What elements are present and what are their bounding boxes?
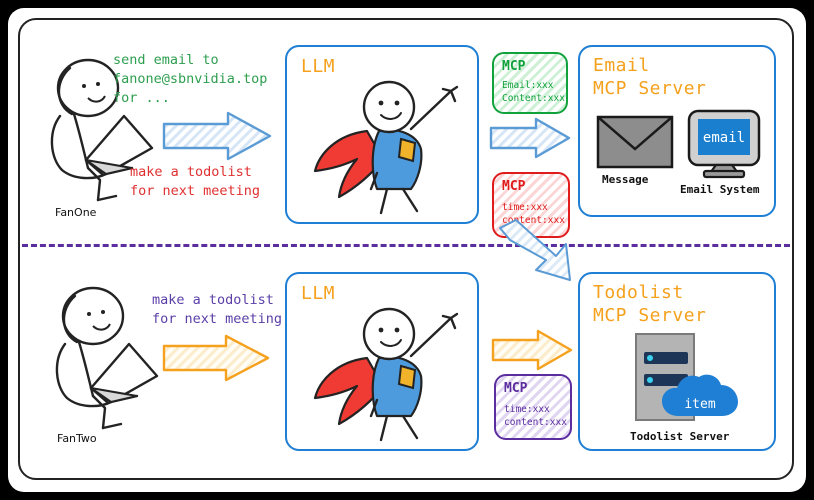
blue-arrow-right-icon (160, 110, 275, 162)
email-prompt-text: send email to fanone@sbnvidia.top for ..… (113, 51, 267, 108)
todolist-prompt-text: make a todolist for next meeting (130, 163, 260, 201)
envelope-icon (596, 115, 674, 171)
server-rack-cloud-icon: item (628, 332, 746, 430)
diagram-canvas: FanOne send email to fanone@sbnvidia.top… (0, 0, 814, 500)
mcp-red-line1: time:xxx (502, 202, 548, 213)
mcp-green-label: MCP (502, 59, 525, 74)
blue-arrow-diagonal-icon (496, 222, 580, 284)
mcp-red-label: MCP (502, 179, 525, 194)
person-label-fanone: FanOne (55, 206, 96, 219)
monitor-caption: Email System (680, 183, 759, 196)
svg-text:email: email (703, 130, 745, 146)
superhero-llm-icon-2 (305, 300, 473, 446)
todolist-mcp-server-card[interactable]: Todolist MCP Server item Todolist Server (578, 272, 776, 451)
llm-card-top[interactable]: LLM (285, 45, 479, 224)
mcp-green-line1: Email:xxx (502, 80, 553, 91)
envelope-caption: Message (602, 173, 648, 186)
todolist-server-title: Todolist MCP Server (593, 281, 706, 327)
todolist-prompt-text-2: make a todolist for next meeting (152, 291, 282, 329)
mcp-purple-line2: content:xxx (504, 417, 567, 428)
email-mcp-server-card[interactable]: Email MCP Server Message email Email Sys… (578, 45, 776, 217)
blue-arrow-right-icon-2 (488, 116, 573, 160)
mcp-purple-line1: time:xxx (504, 404, 550, 415)
orange-arrow-right-icon (160, 334, 275, 382)
mcp-purple-box[interactable]: MCP time:xxx content:xxx (494, 374, 572, 440)
svg-text:item: item (684, 397, 715, 412)
section-divider (22, 244, 790, 247)
superhero-llm-icon (305, 73, 473, 219)
todolist-server-caption: Todolist Server (630, 430, 729, 443)
llm-card-bottom[interactable]: LLM (285, 272, 479, 451)
orange-arrow-right-icon-2 (490, 328, 575, 372)
email-server-title: Email MCP Server (593, 54, 706, 100)
mcp-green-box[interactable]: MCP Email:xxx Content:xxx (492, 52, 568, 114)
monitor-icon: email (686, 109, 762, 179)
mcp-purple-label: MCP (504, 381, 527, 396)
person-label-fantwo: FanTwo (57, 432, 97, 445)
mcp-green-line2: Content:xxx (502, 93, 565, 104)
